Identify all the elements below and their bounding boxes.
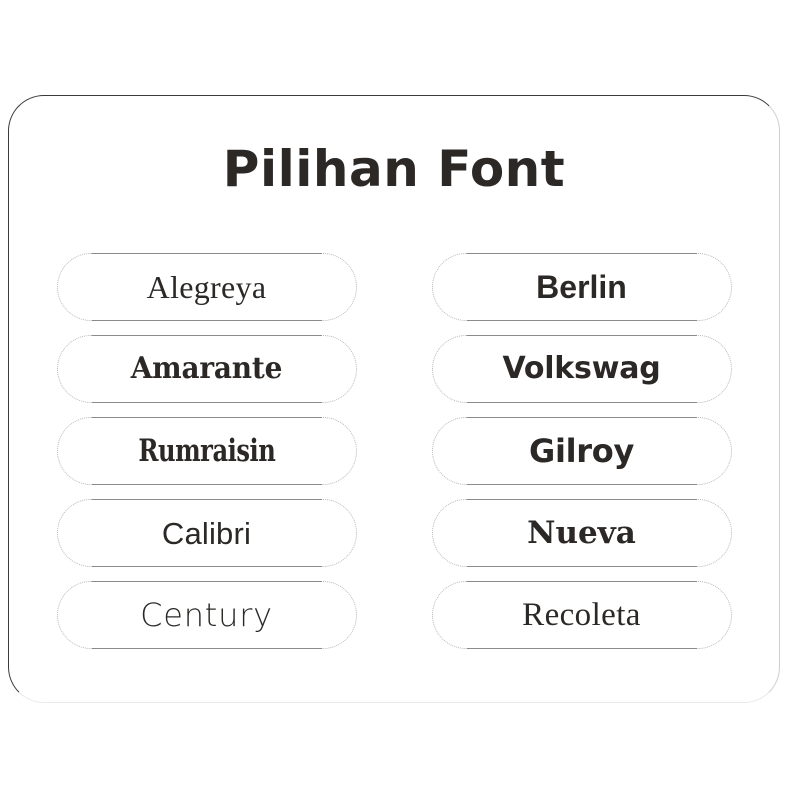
font-option-rumraisin[interactable]: Rumraisin [57, 417, 357, 485]
font-option-label: Rumraisin [138, 436, 275, 467]
font-option-label: Berlin [536, 271, 627, 303]
font-option-label: Amarante [131, 354, 282, 384]
font-option-century[interactable]: Century [57, 581, 357, 649]
font-option-label: Volkswag [502, 354, 660, 384]
right-column: Berlin Volkswag Gilroy Nueva Recoleta [432, 253, 732, 649]
font-option-label: Recoleta [522, 599, 641, 632]
font-option-label: Nueva [527, 518, 636, 549]
font-option-berlin[interactable]: Berlin [432, 253, 732, 321]
font-option-alegreya[interactable]: Alegreya [57, 253, 357, 321]
font-option-gilroy[interactable]: Gilroy [432, 417, 732, 485]
font-option-calibri[interactable]: Calibri [57, 499, 357, 567]
font-option-label: Century [140, 599, 273, 631]
font-option-nueva[interactable]: Nueva [432, 499, 732, 567]
font-option-amarante[interactable]: Amarante [57, 335, 357, 403]
font-picker-card: Pilihan Font Alegreya Amarante Rumraisin… [8, 95, 780, 703]
font-option-label: Alegreya [147, 271, 267, 303]
font-option-label: Calibri [162, 518, 251, 549]
font-option-columns: Alegreya Amarante Rumraisin Calibri Cent… [9, 253, 779, 649]
font-option-label: Gilroy [529, 435, 634, 467]
page-title: Pilihan Font [9, 144, 779, 194]
left-column: Alegreya Amarante Rumraisin Calibri Cent… [57, 253, 357, 649]
font-option-volkswag[interactable]: Volkswag [432, 335, 732, 403]
font-option-recoleta[interactable]: Recoleta [432, 581, 732, 649]
